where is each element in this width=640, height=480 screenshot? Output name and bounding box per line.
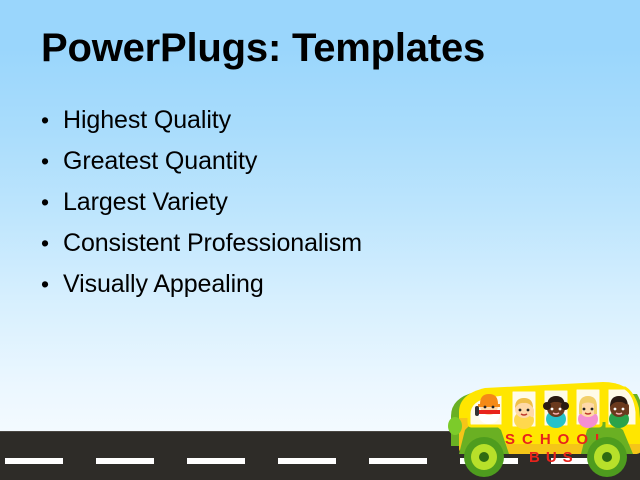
road-dash: [187, 458, 245, 464]
list-item: • Highest Quality: [38, 108, 558, 149]
bullet-list: • Highest Quality • Greatest Quantity • …: [38, 108, 558, 313]
passenger-child: [578, 396, 598, 428]
list-item-label: Visually Appealing: [63, 272, 264, 297]
bullet-dot-icon: •: [38, 191, 63, 214]
bullet-dot-icon: •: [38, 150, 63, 173]
list-item: • Consistent Professionalism: [38, 231, 558, 272]
road-dash: [369, 458, 427, 464]
list-item-label: Largest Variety: [63, 190, 228, 215]
slide-canvas: PowerPlugs: Templates • Highest Quality …: [0, 0, 640, 480]
bus-wheel-front: [464, 437, 504, 477]
bullet-dot-icon: •: [38, 109, 63, 132]
page-title: PowerPlugs: Templates: [41, 26, 485, 70]
school-bus-illustration: SCHOOL BUS: [437, 368, 640, 478]
bus-sign-line-2: BUS: [529, 449, 579, 466]
passenger-child: [609, 396, 629, 428]
list-item-label: Consistent Professionalism: [63, 231, 362, 256]
list-item: • Visually Appealing: [38, 272, 558, 313]
road-dash: [278, 458, 336, 464]
headlight-icon: [448, 417, 462, 435]
list-item: • Greatest Quantity: [38, 149, 558, 190]
road-dash: [96, 458, 154, 464]
bus-wheel-rear: [587, 437, 627, 477]
passenger-child: [514, 398, 534, 429]
bullet-dot-icon: •: [38, 232, 63, 255]
list-item-label: Highest Quality: [63, 108, 231, 133]
road-dash: [5, 458, 63, 464]
bullet-dot-icon: •: [38, 273, 63, 296]
list-item: • Largest Variety: [38, 190, 558, 231]
list-item-label: Greatest Quantity: [63, 149, 257, 174]
